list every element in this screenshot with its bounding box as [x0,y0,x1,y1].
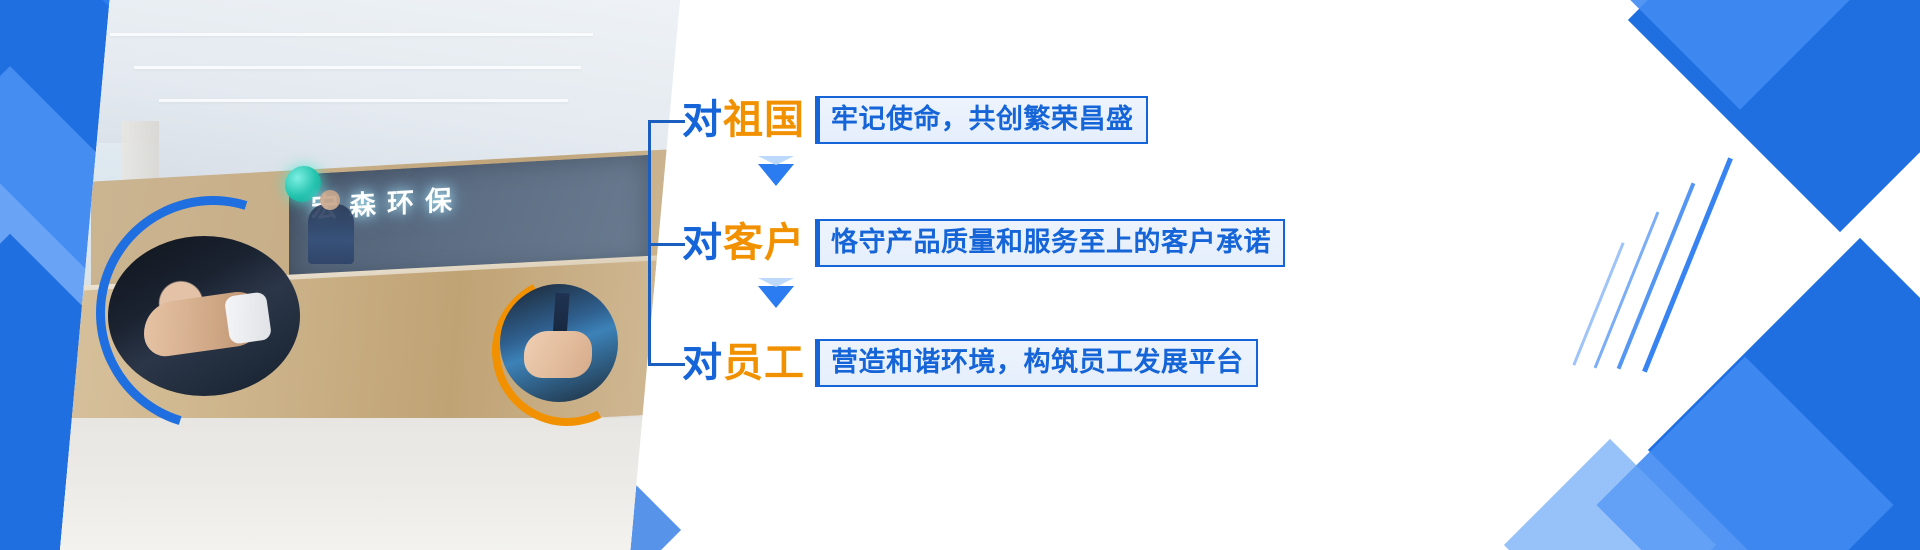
value-lead-prefix: 对 [682,340,723,386]
value-row-country: 对祖国 牢记使命，共创繁荣昌盛 [682,96,1148,144]
floor [60,418,680,550]
ceiling-light-strip [110,33,594,36]
down-arrow-icon-1 [758,164,794,186]
deco-diamond-right-5 [1504,439,1716,550]
clapping-hands-photo [500,284,618,402]
bracket-tick-2 [651,243,685,246]
deco-diamond-right-3 [1648,238,1920,550]
handshake-photo [108,236,300,396]
down-arrow-icon-2 [758,286,794,308]
deco-diamond-right-2 [1570,0,1909,110]
values-list: 对祖国 牢记使命，共创繁荣昌盛 对客户 恪守产品质量和服务至上的客户承诺 对员工… [648,78,1348,408]
value-row-customer: 对客户 恪守产品质量和服务至上的客户承诺 [682,219,1285,267]
value-tag-employee: 营造和谐环境，构筑员工发展平台 [815,339,1258,387]
value-lead-employee: 对员工 [682,343,805,383]
deco-line-right-4 [1572,242,1624,366]
bracket-connector [648,120,685,366]
value-tag-customer: 恪守产品质量和服务至上的客户承诺 [815,219,1285,267]
clapping-hands [524,331,592,378]
deco-diamond-right-1 [1628,0,1920,232]
value-row-employee: 对员工 营造和谐环境，构筑员工发展平台 [682,339,1258,387]
ceiling-light-strip [134,66,580,69]
value-lead-prefix: 对 [682,97,723,143]
value-lead-customer: 对客户 [682,223,805,263]
value-lead-subject: 客户 [723,220,805,266]
bracket-tick-3 [651,363,685,366]
value-lead-prefix: 对 [682,220,723,266]
value-lead-subject: 祖国 [723,97,805,143]
company-values-banner: 宏森环保 对祖国 牢记使命，共创繁荣昌盛 [0,0,1920,550]
bracket-tick-1 [651,120,685,123]
value-tag-country: 牢记使命，共创繁荣昌盛 [815,96,1148,144]
deco-diamond-right-4 [1597,357,1894,550]
value-lead-subject: 员工 [723,340,805,386]
value-lead-country: 对祖国 [682,100,805,140]
shirt-cuff [224,291,273,344]
ceiling-light-strip [159,99,568,102]
